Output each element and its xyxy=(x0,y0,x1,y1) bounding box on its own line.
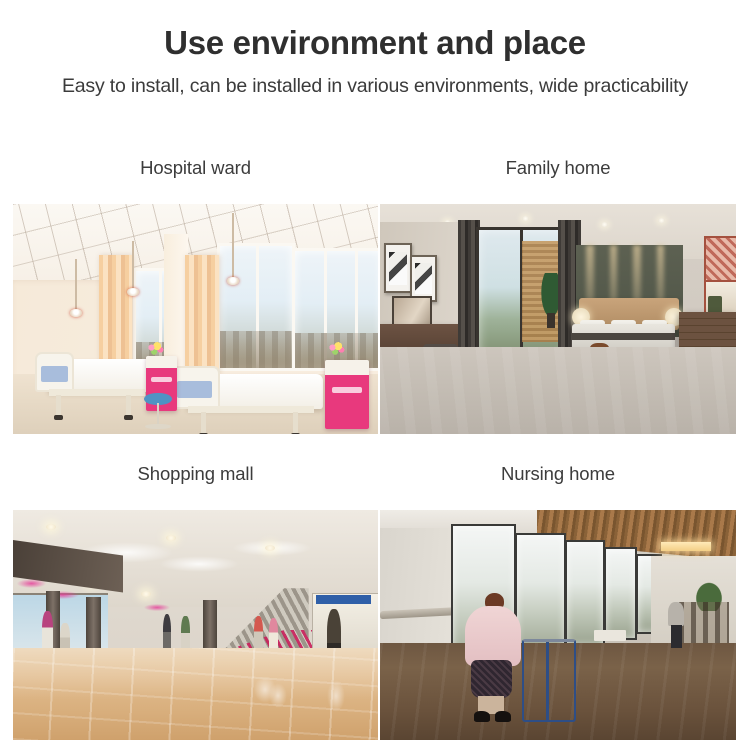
flower-vase-1 xyxy=(146,342,164,356)
environment-grid: Hospital ward Family home Shopping mall … xyxy=(0,0,750,750)
nursing-home-scene xyxy=(380,510,736,740)
elderly-woman-with-walker xyxy=(458,593,529,722)
photo-hospital-ward xyxy=(13,204,378,434)
label-hospital-ward: Hospital ward xyxy=(13,159,378,178)
medical-stool xyxy=(144,393,171,430)
hospital-bed-2 xyxy=(170,360,323,434)
framed-art-1 xyxy=(384,243,413,293)
ceiling-light-bar xyxy=(661,542,711,551)
ceiling-iv-hook-2 xyxy=(132,241,134,289)
corridor-window-4 xyxy=(604,547,636,641)
ceiling-iv-hook-3 xyxy=(232,213,234,277)
label-shopping-mall: Shopping mall xyxy=(13,465,378,484)
pink-jacket xyxy=(465,606,521,667)
curtain-right xyxy=(185,255,220,375)
shopping-mall-scene xyxy=(13,510,378,740)
window-sill-2 xyxy=(594,630,626,642)
photo-family-home xyxy=(380,204,736,434)
photo-shopping-mall xyxy=(13,510,378,740)
label-family-home: Family home xyxy=(380,159,736,178)
window-center xyxy=(217,243,294,371)
flower-vase-2 xyxy=(327,342,345,356)
shoe-left xyxy=(474,711,490,721)
person-walking-far xyxy=(668,602,684,648)
accent-light-3 xyxy=(144,604,170,611)
rolling-walker xyxy=(522,639,576,722)
ceiling-iv-hook-1 xyxy=(75,259,77,310)
bottom-spacer xyxy=(0,740,750,750)
mall-column-3 xyxy=(203,600,218,651)
hospital-bed-1 xyxy=(35,347,152,416)
shopper-3 xyxy=(163,614,172,653)
skirt xyxy=(471,660,512,699)
label-nursing-home: Nursing home xyxy=(380,465,736,484)
polished-floor xyxy=(13,648,378,740)
store-sign xyxy=(316,595,371,604)
carpet-floor xyxy=(380,347,736,434)
hospital-ward-scene xyxy=(13,204,378,434)
family-home-scene xyxy=(380,204,736,434)
product-feature-page: Use environment and place Easy to instal… xyxy=(0,0,750,750)
photo-nursing-home xyxy=(380,510,736,740)
mall-column-2 xyxy=(86,597,101,652)
shoe-right xyxy=(495,711,511,721)
bedside-cabinet-2 xyxy=(325,360,369,429)
